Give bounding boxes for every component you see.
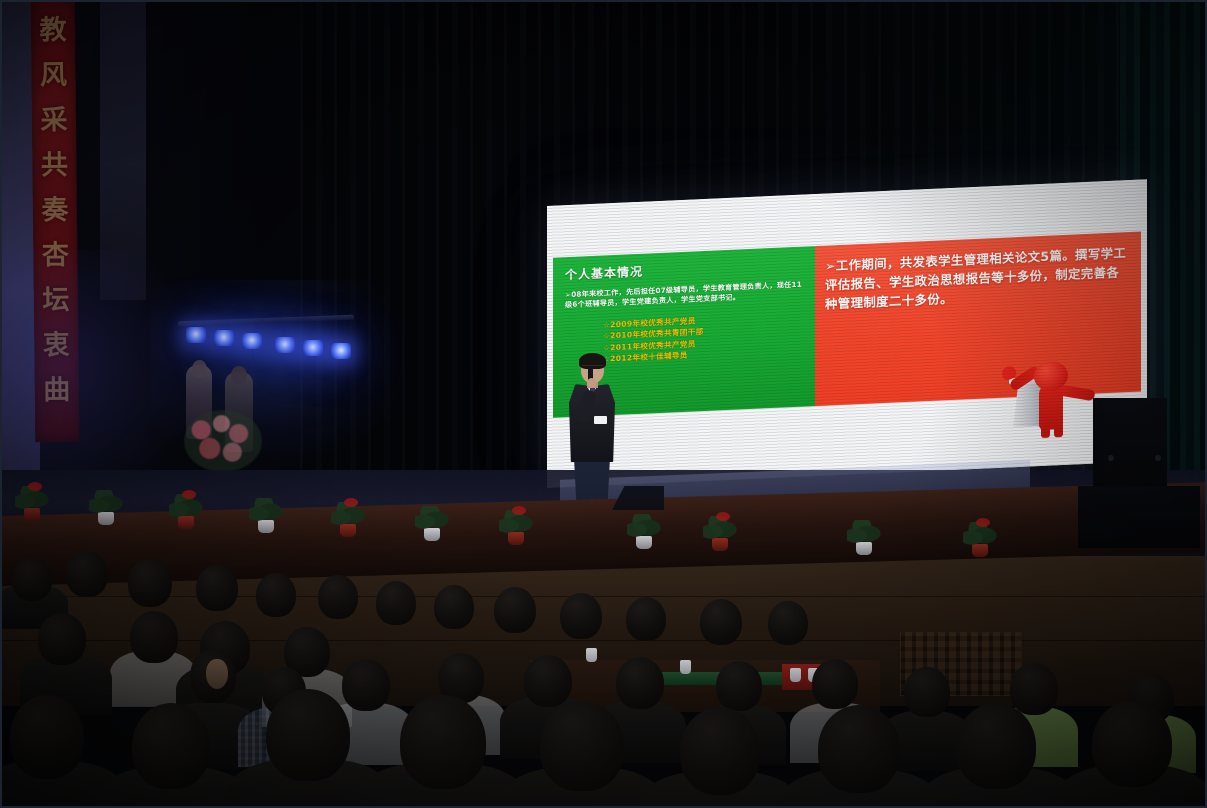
plant-bloom [344, 498, 358, 507]
audience-head-front [1092, 701, 1172, 787]
banner-char-1: 风 [40, 53, 67, 98]
banner-char-6: 坛 [42, 278, 69, 323]
plant-leaves [249, 498, 283, 524]
blue-led-light-4 [275, 337, 295, 353]
plant-bloom [976, 518, 990, 527]
plant-bloom [512, 506, 526, 515]
person-standing-right-head [231, 366, 247, 384]
potted-plant-2 [98, 512, 114, 525]
audience-head [626, 597, 666, 641]
potted-plant-6 [424, 528, 440, 541]
audience-head-front [818, 705, 900, 793]
slide-red-body: ➢工作期间，共发表学生管理相关论文5篇。撰写学工评估报告、学生政治思想报告等十多… [825, 243, 1129, 314]
audience-head [256, 573, 296, 617]
audience-head [128, 559, 172, 607]
audience-head [434, 585, 474, 629]
plant-leaves [415, 506, 449, 532]
audience-head [130, 611, 178, 663]
slide-section-title: 个人基本情况 [565, 256, 805, 284]
pa-speaker-stack-2 [1103, 398, 1167, 490]
blue-led-light-2 [214, 330, 234, 346]
audience-head-front [132, 703, 210, 789]
floral-arrangement [184, 410, 262, 472]
plant-leaves [627, 514, 661, 540]
audience-head [376, 581, 416, 625]
audience-head [904, 667, 950, 717]
banner-char-4: 奏 [41, 188, 68, 233]
audience-head [616, 657, 664, 709]
audience-head [342, 659, 390, 711]
audience-head [12, 557, 52, 601]
banner-char-8: 曲 [43, 368, 70, 413]
audience-head-front [400, 695, 486, 789]
audience-head [700, 599, 742, 645]
side-wall-left-inner [100, 0, 146, 300]
plant-bloom [28, 482, 42, 491]
audience-head-front [956, 703, 1036, 789]
seated-audience [0, 545, 1207, 808]
blue-led-light-6 [331, 343, 351, 359]
blue-led-light-3 [242, 333, 262, 349]
pa-speaker-stack-3 [1078, 486, 1200, 548]
audience-head [768, 601, 808, 645]
potted-plant-5 [340, 524, 356, 537]
audience-head [524, 655, 572, 707]
audience-head-front [10, 695, 84, 779]
audience-head-front [540, 701, 624, 791]
audience-face [206, 659, 228, 689]
plant-leaves [847, 520, 881, 546]
plant-bloom [182, 490, 196, 499]
presenter-hand [587, 378, 596, 388]
audience-head [494, 587, 536, 633]
potted-plant-7 [508, 532, 524, 545]
speaker-logo-dot-2 [1155, 455, 1161, 461]
banner-char-3: 共 [41, 143, 68, 188]
speaker-logo-dot-1 [1108, 455, 1114, 461]
plant-bloom [716, 512, 730, 521]
vertical-red-banner: 教 风 采 共 奏 杏 坛 衷 曲 [31, 0, 80, 442]
slide-green-body: ➢08年来校工作，先后担任07级辅导员，学生教育管理负责人，现任11级6个班辅导… [565, 280, 805, 310]
presenter-name-badge [594, 416, 607, 424]
banner-char-0: 教 [39, 8, 66, 53]
audience-head [560, 593, 602, 639]
blue-led-light-1 [186, 327, 206, 343]
blue-led-light-5 [303, 340, 323, 356]
slide-awards-list: ☆2009年校优秀共产党员 ☆2010年校优秀共青团干部 ☆2011年校优秀共产… [603, 311, 805, 365]
audience-head [716, 661, 762, 711]
potted-plant-4 [258, 520, 274, 533]
audience-head [318, 575, 358, 619]
photo-scene: 教 风 采 共 奏 杏 坛 衷 曲 个人基本情况 ➢08年来校工作，先后担任07… [0, 0, 1207, 808]
plant-leaves [89, 490, 123, 516]
banner-char-5: 杏 [42, 233, 69, 278]
slide-red-panel: ➢工作期间，共发表学生管理相关论文5篇。撰写学工评估报告、学生政治思想报告等十多… [815, 232, 1141, 407]
audience-head [196, 565, 238, 611]
potted-plant-3 [178, 516, 194, 529]
audience-head [812, 659, 858, 709]
powerpoint-slide: 个人基本情况 ➢08年来校工作，先后担任07级辅导员，学生教育管理负责人，现任1… [547, 179, 1147, 488]
person-standing-left-head [192, 360, 207, 378]
audience-head [38, 613, 86, 665]
audience-head [1010, 663, 1058, 715]
audience-head-front [680, 707, 760, 795]
audience-head-front [266, 689, 350, 781]
banner-char-7: 衷 [43, 323, 70, 368]
potted-plant-1 [24, 508, 40, 521]
audience-head [66, 551, 108, 597]
banner-char-2: 采 [40, 98, 67, 143]
led-presentation-screen: 个人基本情况 ➢08年来校工作，先后担任07级辅导员，学生教育管理负责人，现任1… [547, 179, 1147, 488]
